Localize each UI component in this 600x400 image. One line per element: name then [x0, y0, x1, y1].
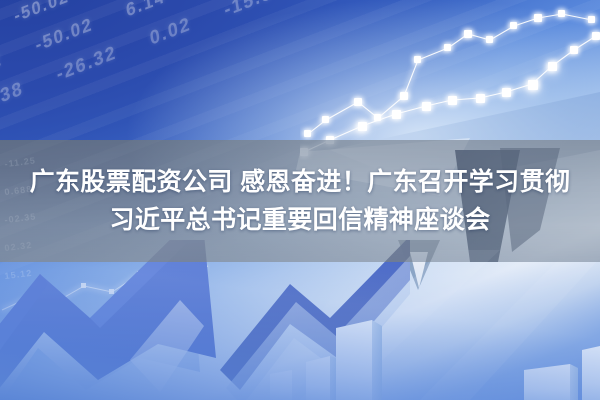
headline-text-block: 广东股票配资公司 感恩奋进！广东召开学习贯彻 习近平总书记重要回信精神座谈会 [0, 140, 600, 262]
headline-line-1: 广东股票配资公司 感恩奋进！广东召开学习贯彻 [30, 165, 571, 199]
stock-news-banner: 45.02-023521.06-11.25-0235-06.024.36+5.0… [0, 0, 600, 400]
headline-line-2: 习近平总书记重要回信精神座谈会 [109, 203, 490, 237]
